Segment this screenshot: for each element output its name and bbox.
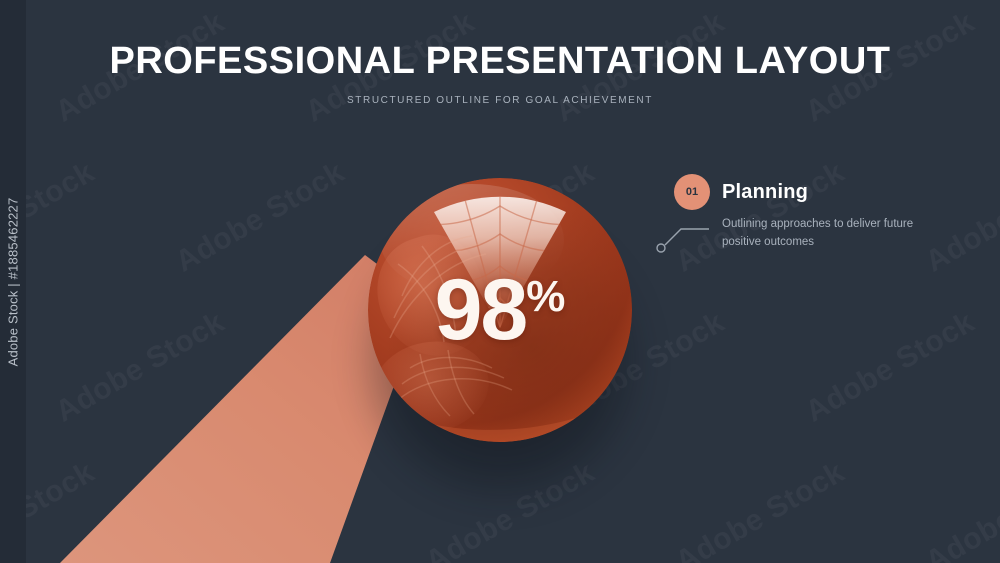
callout-planning[interactable]: 01 Planning Outlining approaches to deli… <box>674 174 914 252</box>
callout-badge: 01 <box>674 174 710 210</box>
page-title: PROFESSIONAL PRESENTATION LAYOUT <box>0 40 1000 83</box>
percentage-sphere: 98% <box>368 178 632 442</box>
page-subtitle: STRUCTURED OUTLINE FOR GOAL ACHIEVEMENT <box>0 95 1000 106</box>
callout-title: Planning <box>722 181 808 204</box>
sphere-detail-svg <box>368 178 632 442</box>
sphere-body: 98% <box>368 178 632 442</box>
slide-canvas: Adobe StockAdobe StockAdobe StockAdobe S… <box>0 0 1000 563</box>
callout-header: 01 Planning <box>674 174 914 210</box>
credit-sidebar: Adobe Stock | #1885462227 <box>0 0 26 563</box>
credit-text: Adobe Stock | #1885462227 <box>6 197 21 366</box>
callout-description: Outlining approaches to deliver future p… <box>722 216 914 252</box>
header: PROFESSIONAL PRESENTATION LAYOUT STRUCTU… <box>0 40 1000 106</box>
connector-dot-icon <box>657 244 665 252</box>
